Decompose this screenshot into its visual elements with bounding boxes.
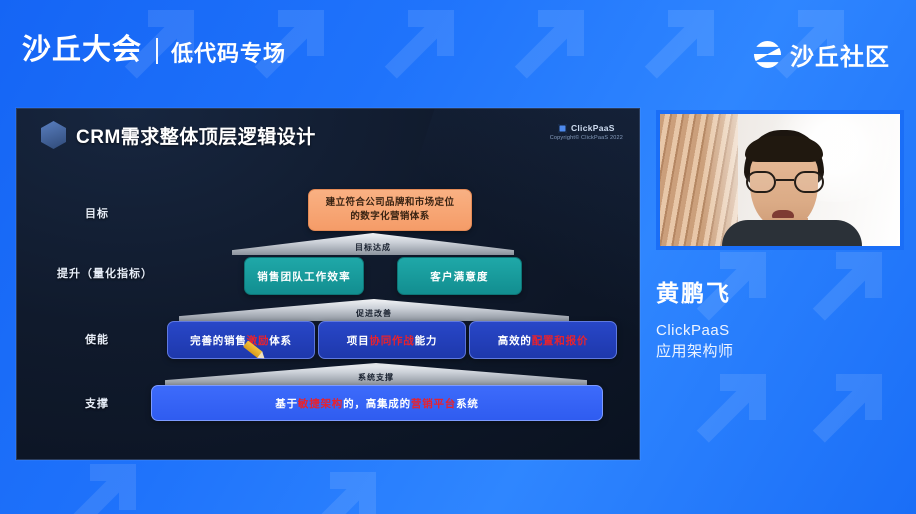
vendor-name: ClickPaaS [571, 123, 615, 133]
glasses-icon [746, 171, 824, 193]
window-blinds [660, 114, 738, 246]
support-text-highlight-1: 敏捷架构 [298, 396, 343, 411]
support-text-highlight-2: 营销平台 [411, 396, 456, 411]
event-title: 沙丘大会 [22, 36, 142, 65]
event-subtitle: 低代码专场 [171, 42, 286, 65]
slide-content: CRM需求整体顶层逻辑设计 ClickPaaS Copyright© Click… [16, 108, 640, 460]
enabler-box: 高效的配置和报价 [469, 321, 617, 359]
goal-line-1: 建立符合公司品牌和市场定位 [326, 197, 455, 208]
speaker-role: 应用架构师 [656, 341, 734, 363]
slide-title: CRM需求整体顶层逻辑设计 [76, 122, 316, 149]
connector-promote-improvement: 促进改善 [179, 299, 569, 321]
support-bar: 基于敏捷架构的，高集成的营销平台系统 [151, 385, 603, 421]
speaker-shoulders [722, 220, 862, 246]
connector-label: 目标达成 [232, 242, 514, 253]
row-label-support: 支撑 [85, 395, 109, 411]
row-label-enable: 使能 [85, 331, 109, 347]
arrow-watermark-icon [806, 250, 884, 328]
metric-box: 销售团队工作效率 [244, 257, 364, 295]
vendor-copyright: Copyright© ClickPaaS 2022 [550, 135, 623, 141]
connector-system-support: 系统支撑 [165, 363, 587, 385]
speaker-name: 黄鹏飞 [656, 280, 734, 308]
slide-title-row: CRM需求整体顶层逻辑设计 [41, 121, 316, 149]
enabler-box: 完善的销售激励体系 [167, 321, 315, 359]
arrow-watermark-icon [300, 470, 378, 514]
speaker-video-frame[interactable] [656, 110, 904, 250]
connector-label: 促进改善 [179, 308, 569, 319]
speaker-webcam-video[interactable] [660, 114, 900, 246]
sandhill-s-logo-icon [754, 41, 781, 68]
enabler-text-highlight: 配置和报价 [532, 333, 589, 348]
connector-goal-achievement: 目标达成 [232, 233, 514, 255]
enabler-text-pre: 完善的销售 [190, 333, 247, 348]
title-divider [156, 38, 158, 64]
enabler-text-pre: 高效的 [498, 333, 532, 348]
event-header: 沙丘大会 低代码专场 沙丘社区 [0, 0, 916, 100]
event-branding: 沙丘大会 低代码专场 [22, 36, 286, 65]
support-text-pre: 基于 [275, 396, 298, 411]
clickpaas-mark-icon [558, 124, 567, 133]
speaker-affiliation: ClickPaaS 应用架构师 [656, 320, 734, 364]
vendor-logo-block: ClickPaaS Copyright© ClickPaaS 2022 [550, 123, 623, 141]
presentation-stage: 沙丘大会 低代码专场 沙丘社区 CRM需求整体顶层逻辑设计 ClickPaaS … [0, 0, 916, 514]
community-branding: 沙丘社区 [754, 37, 890, 72]
goal-box: 建立符合公司品牌和市场定位 的数字化营销体系 [308, 189, 472, 231]
enabler-box: 项目协同作战能力 [318, 321, 466, 359]
enabler-text-pre: 项目 [347, 333, 370, 348]
speaker-company: ClickPaaS [656, 320, 734, 342]
enabler-text-post: 体系 [269, 333, 292, 348]
row-label-metrics: 提升（量化指标） [57, 265, 153, 281]
speaker-fringe [745, 136, 823, 162]
support-text-post: 系统 [456, 396, 479, 411]
row-label-goal: 目标 [85, 205, 109, 221]
enabler-text-post: 能力 [415, 333, 438, 348]
community-name: 沙丘社区 [790, 37, 890, 72]
arrow-watermark-icon [60, 462, 138, 514]
metric-box: 客户满意度 [397, 257, 522, 295]
connector-label: 系统支撑 [165, 372, 587, 383]
enabler-text-highlight: 协同作战 [369, 333, 414, 348]
arrow-watermark-icon [690, 372, 768, 450]
arrow-watermark-icon [806, 372, 884, 450]
support-text-mid: 的，高集成的 [343, 396, 411, 411]
goal-line-2: 的数字化营销体系 [350, 211, 429, 222]
speaker-info: 黄鹏飞 ClickPaaS 应用架构师 [656, 280, 734, 363]
hexagon-icon [41, 121, 66, 149]
